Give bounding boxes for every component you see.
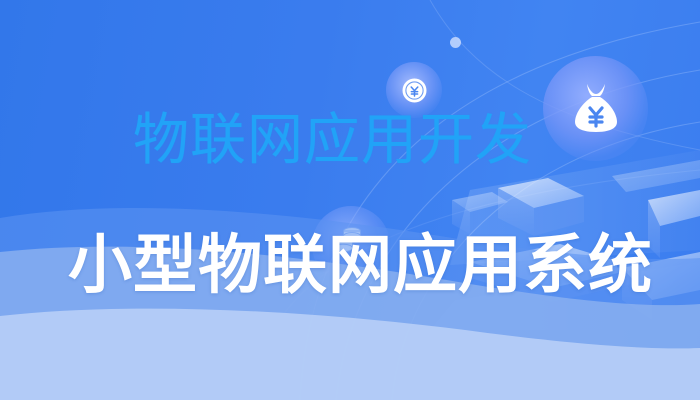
banner-title: 小型物联网应用系统 bbox=[68, 232, 648, 299]
banner-subtitle: 物联网应用开发 bbox=[133, 112, 603, 168]
orbit-arcs bbox=[0, 0, 700, 400]
course-banner: 物联网应用开发 小型物联网应用系统 bbox=[0, 0, 700, 400]
wave-band-3 bbox=[0, 309, 700, 400]
isometric-blocks bbox=[0, 0, 700, 400]
floating-dot bbox=[450, 37, 461, 48]
wave-decoration bbox=[0, 0, 700, 400]
coin-icon bbox=[402, 78, 427, 103]
